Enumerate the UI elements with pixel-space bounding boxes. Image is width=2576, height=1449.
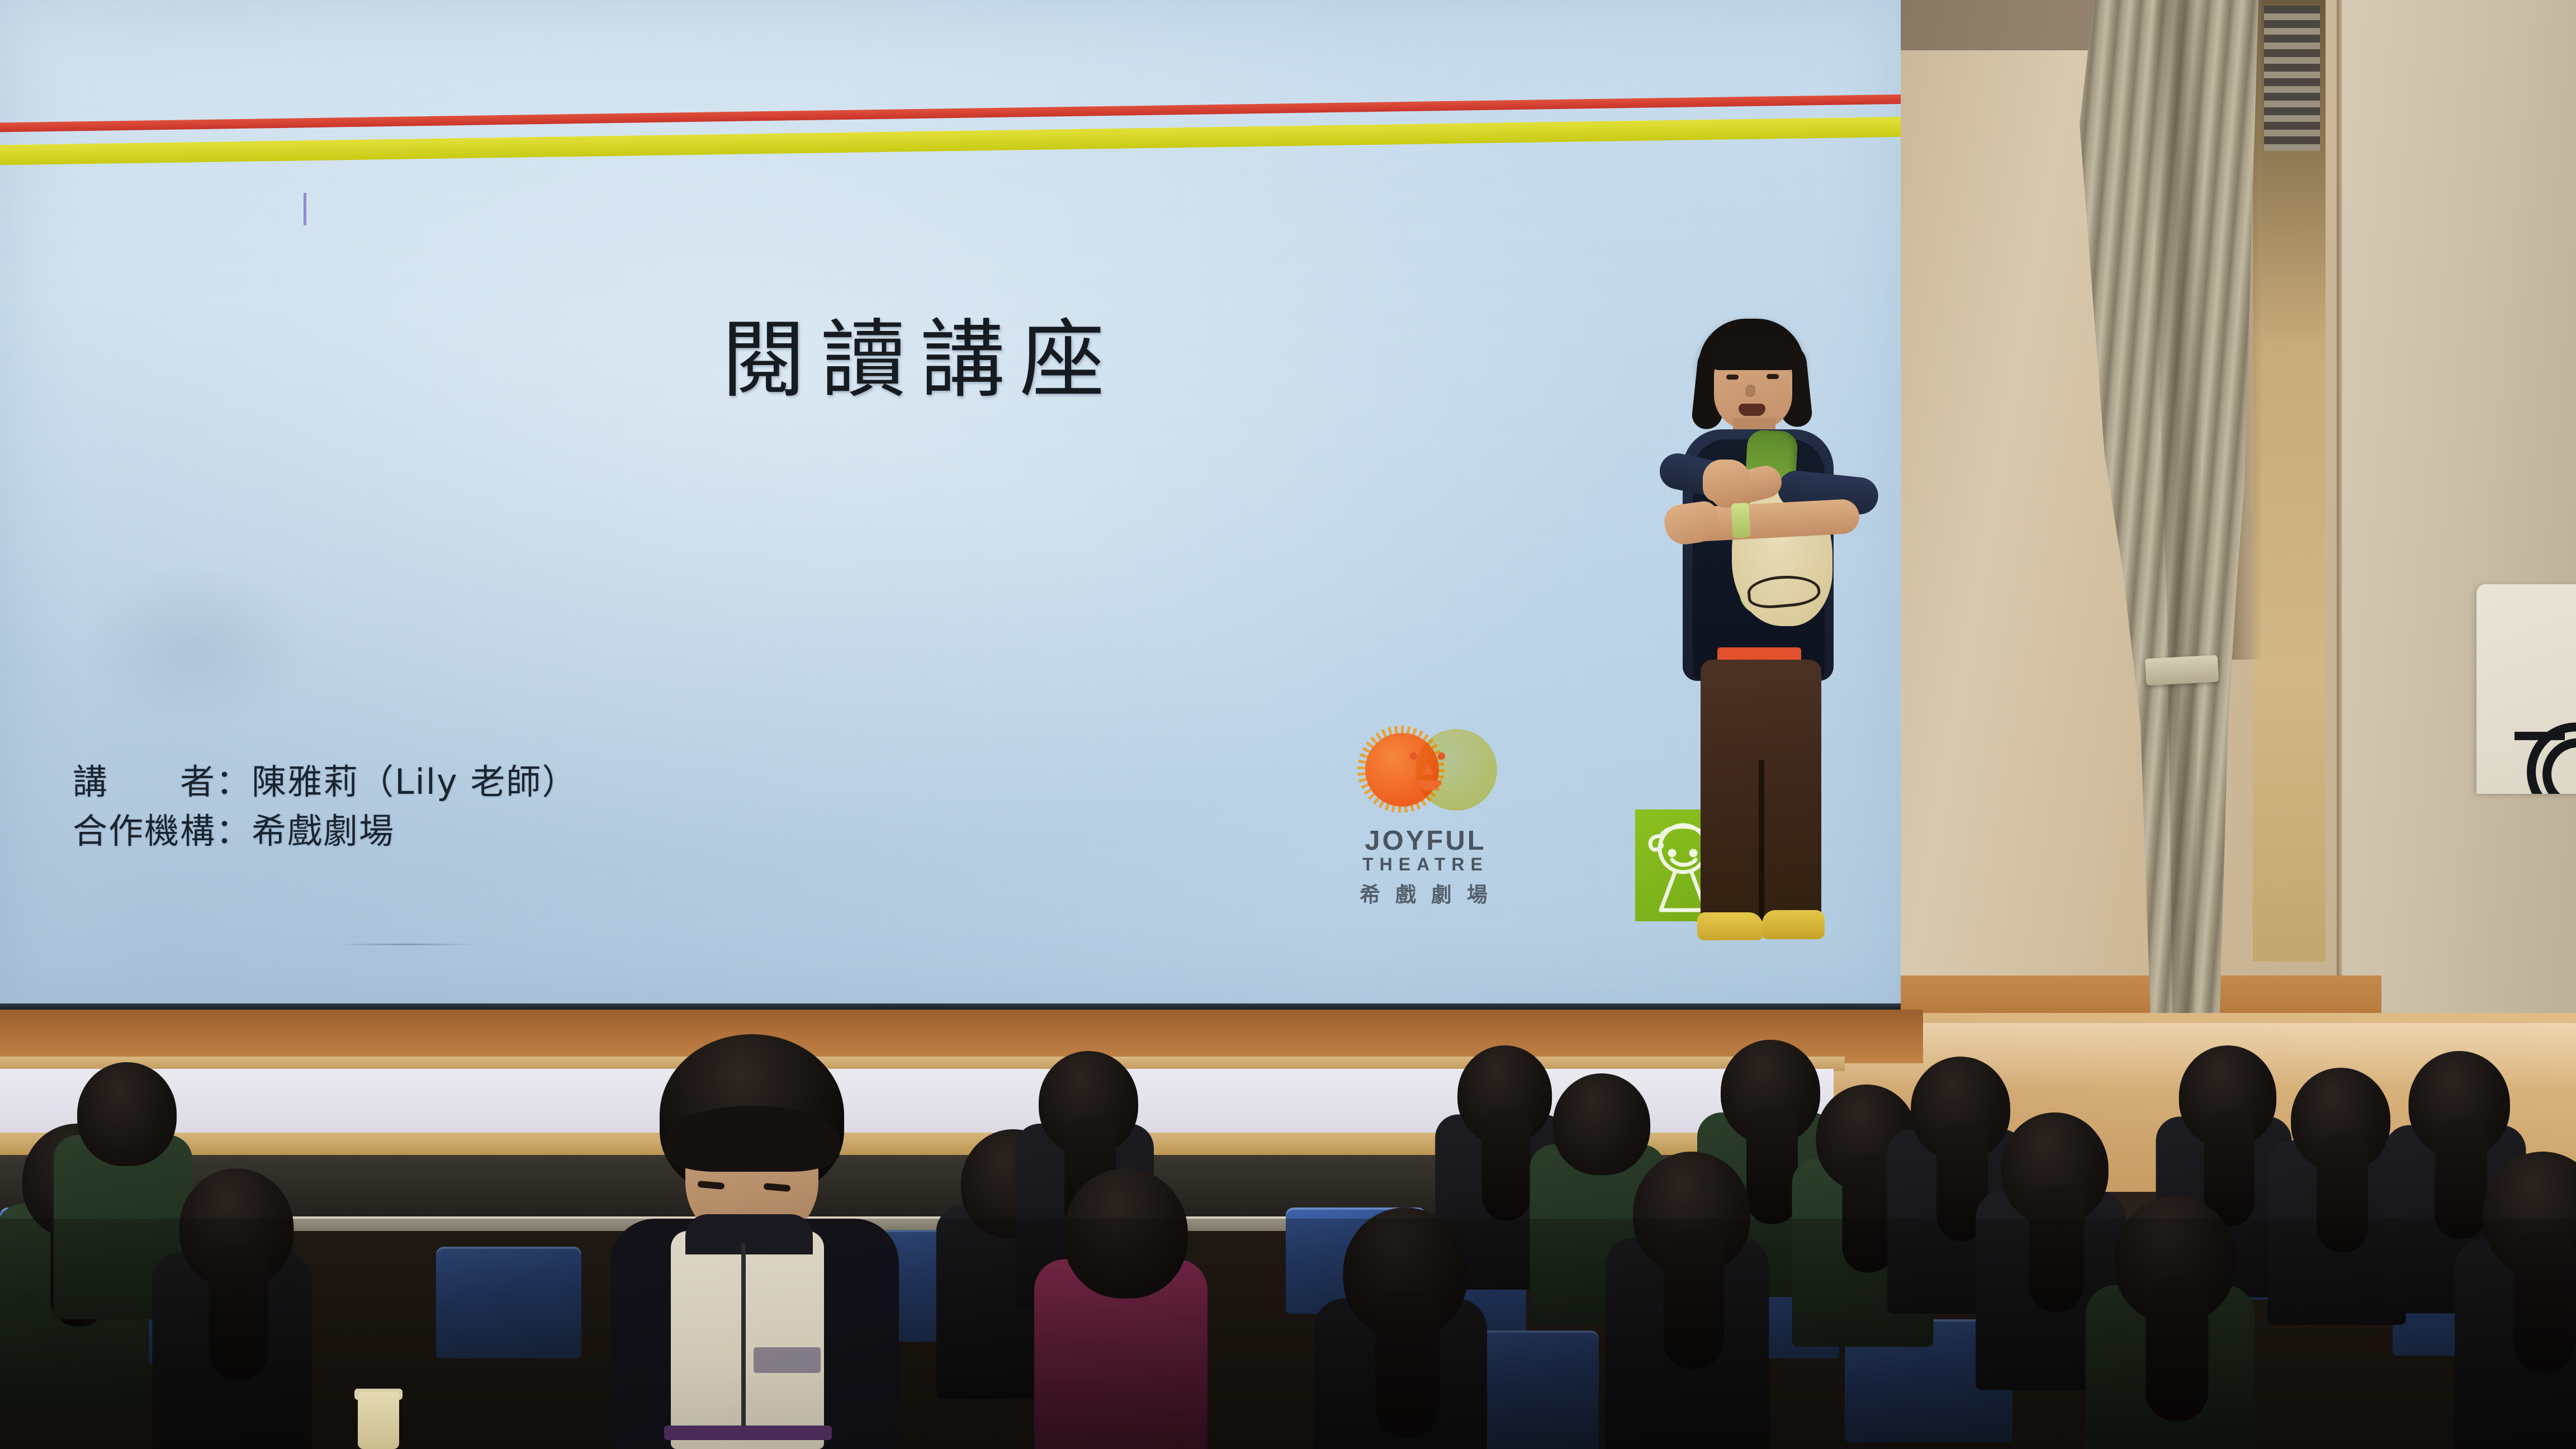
slide-faint-rule [335, 944, 475, 945]
joyful-theatre-logo: JOYFUL THEATRE 希 戲 劇 場 [1342, 721, 1509, 911]
sun-eye-right [1438, 752, 1445, 760]
presenter-shoe-left [1697, 912, 1763, 940]
student-ponytail [2514, 1232, 2575, 1373]
presenter-fringe [1710, 337, 1798, 370]
student-jacket-collar [685, 1214, 813, 1254]
sun-nose [1422, 764, 1433, 775]
far-right-wall [2342, 0, 2576, 1062]
student-head [1553, 1073, 1650, 1175]
stage-curtain [2080, 0, 2258, 1034]
slide-credits: 講 者：陳雅莉（Lily 老師） 合作機構：希戲劇場 [73, 757, 577, 856]
student-head [1064, 1168, 1188, 1299]
wall-panel-edge [2337, 0, 2342, 1051]
presenter-nose [1745, 385, 1755, 397]
sun-eye-left [1410, 752, 1417, 760]
student-ponytail [1746, 1107, 1798, 1224]
paper-cup [358, 1392, 399, 1449]
logo-text-joyful: JOYFUL [1342, 825, 1509, 856]
screen-shadow-blot [78, 565, 313, 732]
sun-face-icon [1353, 721, 1504, 822]
student-jacket-badge [754, 1347, 821, 1373]
credit-organisation: 合作機構：希戲劇場 [73, 807, 577, 856]
auditorium-photo: 閱讀講座 講 者：陳雅莉（Lily 老師） 合作機構：希戲劇場 JOYFUL T… [0, 0, 2576, 1449]
student-ponytail [209, 1246, 268, 1381]
presenter-fist [1703, 460, 1751, 502]
presenter-eye-left [1726, 375, 1739, 380]
student-ponytail [2029, 1185, 2084, 1312]
logo-text-theatre: THEATRE [1342, 854, 1509, 875]
sun-facial-features [1407, 746, 1457, 799]
sun-mouth [1418, 780, 1441, 790]
student-fringe [665, 1106, 840, 1172]
student-head [77, 1062, 177, 1166]
student-ponytail [1482, 1109, 1531, 1221]
student-jacket-zip [741, 1243, 746, 1428]
credit-speaker: 講 者：陳雅莉（Lily 老師） [73, 757, 577, 807]
presenter-mouth [1739, 404, 1765, 416]
wall-sign-panel [2476, 584, 2576, 794]
slide-title: 閱讀講座 [721, 291, 1119, 414]
student-jacket-panel [671, 1231, 824, 1449]
slide-cursor-tick [304, 193, 306, 225]
student-ponytail [2435, 1119, 2487, 1239]
student-ponytail [2146, 1278, 2208, 1421]
presenter-wristband [1731, 503, 1750, 538]
presenter-eye-right [1767, 374, 1779, 379]
student-ponytail [2317, 1135, 2368, 1252]
student-ponytail [1375, 1291, 1439, 1438]
student-jacket-trim [664, 1426, 832, 1440]
presenter-shoe-right [1762, 910, 1825, 939]
curtain-tieback [2145, 655, 2219, 686]
student-ponytail [1664, 1231, 1725, 1370]
ceiling-shadow [1895, 0, 2096, 50]
logo-text-chinese: 希 戲 劇 場 [1342, 878, 1509, 908]
circular-logo-icon [2503, 706, 2576, 794]
front-row-student [576, 1034, 934, 1449]
ventilation-louvre [2264, 6, 2320, 151]
auditorium-chair[interactable] [436, 1247, 581, 1358]
audience-area [0, 984, 2576, 1449]
slide-decorative-stripes [0, 69, 1901, 177]
presenter-leg-seam [1759, 760, 1764, 928]
